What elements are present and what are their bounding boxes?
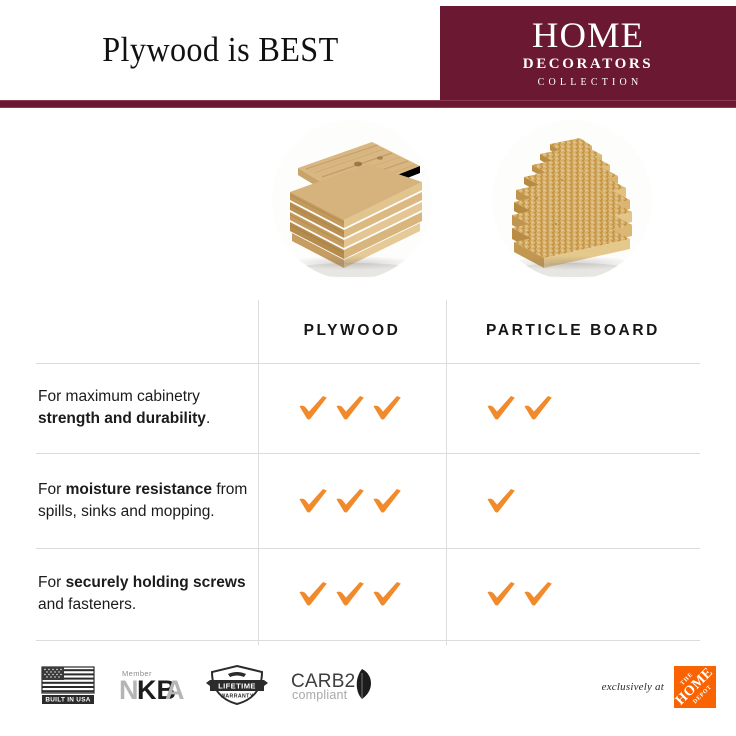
row-label-strength: For maximum cabinetry strength and durab… [38,363,248,453]
checkmark-icon [333,579,367,609]
checkmark-icon [296,393,330,423]
product-images-band [0,108,736,290]
row-label-suffix: and fasteners. [38,596,136,613]
svg-text:WARRANTY: WARRANTY [220,694,253,700]
carb2-compliant-badge: CARB2 compliant [290,665,376,710]
checkmark-icon [296,486,330,516]
particle-rating-row-1 [484,363,555,453]
page-title: Plywood is BEST [102,30,338,70]
checkmark-icon [333,486,367,516]
row-label-prefix: For [38,574,66,591]
checkmark-icon [333,393,367,423]
plywood-stack-photo [272,120,432,280]
plywood-rating-row-3 [296,548,404,640]
plywood-rating-row-1 [296,363,404,453]
checkmark-icon [521,393,555,423]
checkmark-icon [484,579,518,609]
row-label-prefix: For [38,481,66,498]
built-in-usa-badge: BUILT IN USA [40,665,96,710]
table-row-divider-4 [36,640,700,641]
carb2-compliant-icon: CARB2 compliant [290,665,376,705]
brand-logo: HOME DECORATORS COLLECTION [440,6,736,102]
particle-rating-row-2 [484,453,518,548]
checkmark-icon [296,579,330,609]
brand-logo-home: HOME [532,18,644,52]
checkmark-icon [521,579,555,609]
svg-text:BUILT IN USA: BUILT IN USA [45,697,90,704]
row-label-bold: securely holding screws [66,574,246,591]
row-label-prefix: For maximum cabinetry [38,388,200,405]
us-flag-icon: BUILT IN USA [40,665,96,705]
lifetime-warranty-badge: LIFETIME WARRANTY [206,664,268,711]
brand-logo-collection: COLLECTION [534,76,643,90]
particle-rating-row-3 [484,548,555,640]
brand-logo-decorators: DECORATORS [523,54,653,74]
certification-badges: BUILT IN USA Member N KB A LIFETIME WARR… [40,664,376,711]
svg-text:LIFETIME: LIFETIME [218,681,256,690]
home-depot-logo-text: THE HOME DEPOT [674,666,716,708]
plywood-rating-row-2 [296,453,404,548]
table-row: For securely holding screws and fastener… [0,548,736,640]
table-row: For maximum cabinetry strength and durab… [0,363,736,453]
column-header-particle-board: PARTICLE BOARD [446,318,700,344]
home-depot-logo: THE HOME DEPOT [674,666,716,708]
nkba-member-badge: Member N KB A [118,665,184,710]
column-header-plywood: PLYWOOD [258,318,446,344]
page-footer: BUILT IN USA Member N KB A LIFETIME WARR… [0,650,736,736]
svg-text:A: A [165,675,184,705]
page-header: Plywood is BEST HOME DECORATORS COLLECTI… [0,0,736,108]
lifetime-warranty-shield-icon: LIFETIME WARRANTY [206,664,268,706]
table-row: For moisture resistance from spills, sin… [0,453,736,548]
svg-text:N: N [119,675,139,705]
plywood-photo-shadow [286,256,418,270]
row-label-screws: For securely holding screws and fastener… [38,548,248,640]
header-divider-bar [0,100,736,108]
header-title-block: Plywood is BEST [0,0,440,100]
comparison-table: PLYWOOD PARTICLE BOARD For maximum cabin… [0,290,736,650]
exclusively-at-label: exclusively at [602,681,664,693]
particle-board-stack-photo [492,120,652,280]
checkmark-icon [370,393,404,423]
checkmark-icon [370,486,404,516]
svg-text:compliant: compliant [292,688,348,702]
exclusively-at-block: exclusively at THE HOME DEPOT [602,666,716,708]
row-label-bold: moisture resistance [66,481,212,498]
checkmark-icon [484,486,518,516]
row-label-suffix: . [206,410,210,427]
nkba-logo-icon: Member N KB A [118,665,184,705]
checkmark-icon [484,393,518,423]
row-label-bold: strength and durability [38,410,206,427]
row-label-moisture: For moisture resistance from spills, sin… [38,453,248,548]
particle-photo-shadow [506,256,638,270]
checkmark-icon [370,579,404,609]
